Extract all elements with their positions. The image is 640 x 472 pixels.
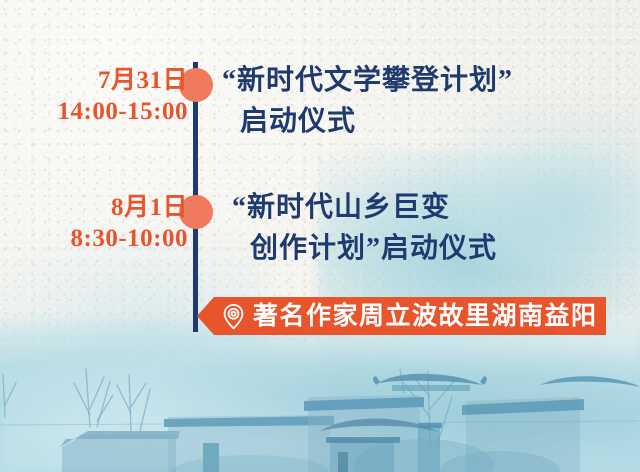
event-2-title-line-2: 创作计划”启动仪式 — [232, 228, 497, 269]
location-ribbon-text: 著名作家周立波故里湖南益阳 — [253, 304, 598, 329]
event-1-title-line-2: 启动仪式 — [222, 101, 513, 142]
event-1-title: “新时代文学攀登计划” 启动仪式 — [222, 60, 513, 142]
location-ribbon: 著名作家周立波故里湖南益阳 — [197, 297, 606, 335]
location-pin-icon — [219, 302, 248, 331]
event-2-title-line-1: “新时代山乡巨变 — [232, 192, 450, 223]
event-1-date: 7月31日 — [58, 66, 188, 97]
event-2-title: “新时代山乡巨变 创作计划”启动仪式 — [232, 187, 497, 269]
event-1-title-line-1: “新时代文学攀登计划” — [222, 65, 513, 96]
event-2-meta: 8月1日 8:30-10:00 — [71, 193, 188, 254]
event-1-time: 14:00-15:00 — [58, 97, 188, 128]
poster-canvas: 7月31日 14:00-15:00 “新时代文学攀登计划” 启动仪式 8月1日 … — [0, 0, 640, 472]
event-2-date: 8月1日 — [71, 193, 188, 224]
event-1-meta: 7月31日 14:00-15:00 — [58, 66, 188, 127]
event-2-time: 8:30-10:00 — [71, 224, 188, 255]
